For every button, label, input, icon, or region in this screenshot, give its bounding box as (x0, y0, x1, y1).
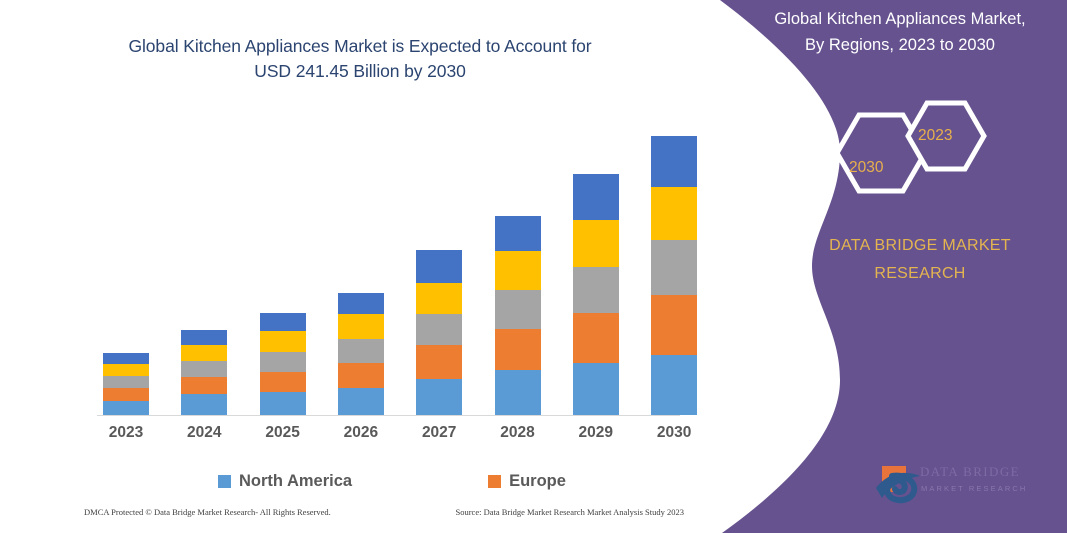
logo-text-data-bridge: DATA BRIDGE (920, 464, 1020, 480)
legend-label-north-america: North America (239, 472, 352, 491)
bar-segment-2025-series-4 (260, 331, 306, 352)
hexagon-2030-label: 2030 (849, 159, 883, 177)
legend-label-europe: Europe (509, 472, 566, 491)
bar-segment-2025-series-5 (260, 313, 306, 331)
bar-segment-2025-europe (260, 372, 306, 392)
bar-segment-2023-series-4 (103, 364, 149, 376)
bar-segment-2025-north-america (260, 392, 306, 415)
bar-segment-2027-europe (416, 345, 462, 379)
bar-segment-2029-europe (573, 313, 619, 363)
panel-title: Global Kitchen Appliances Market, By Reg… (740, 6, 1060, 58)
footer-copyright: DMCA Protected © Data Bridge Market Rese… (84, 507, 331, 517)
infographic-canvas: Global Kitchen Appliances Market is Expe… (0, 0, 1067, 533)
bar-segment-2026-series-4 (338, 314, 384, 339)
bar-segment-2027-series-4 (416, 283, 462, 314)
bar-segment-2024-series-3 (181, 361, 227, 377)
bar-segment-2024-north-america (181, 394, 227, 415)
bar-2025[interactable] (260, 313, 306, 533)
bar-segment-2028-series-3 (495, 290, 541, 329)
panel-title-line-1: Global Kitchen Appliances Market, (740, 6, 1060, 32)
brand-name: DATA BRIDGE MARKET RESEARCH (800, 232, 1040, 288)
bar-segment-2025-series-3 (260, 352, 306, 372)
panel-title-line-2: By Regions, 2023 to 2030 (740, 32, 1060, 58)
x-axis-label-2027: 2027 (404, 424, 474, 442)
bar-segment-2028-series-4 (495, 251, 541, 290)
bar-segment-2027-series-5 (416, 250, 462, 283)
bar-segment-2028-north-america (495, 370, 541, 415)
bar-segment-2024-europe (181, 377, 227, 394)
bar-segment-2023-series-5 (103, 353, 149, 364)
hexagon-badges: 2023 2030 (815, 98, 1005, 208)
bar-segment-2029-series-3 (573, 267, 619, 313)
bar-segment-2024-series-5 (181, 330, 227, 345)
bar-segment-2023-europe (103, 388, 149, 401)
bar-segment-2024-series-4 (181, 345, 227, 361)
bar-segment-2026-series-5 (338, 293, 384, 314)
legend-item-europe[interactable]: Europe (488, 472, 566, 491)
chart-panel: Global Kitchen Appliances Market is Expe… (0, 0, 720, 533)
plot-area: 20232024202520262027202820292030 (0, 0, 720, 533)
bar-segment-2029-series-5 (573, 174, 619, 220)
legend-item-north-america[interactable]: North America (218, 472, 352, 491)
bar-segment-2026-north-america (338, 388, 384, 415)
bar-segment-2026-series-3 (338, 339, 384, 363)
footer-source: Source: Data Bridge Market Research Mark… (455, 507, 684, 517)
chart-legend: North America Europe (100, 472, 620, 491)
hexagon-outlines-icon (815, 98, 1005, 208)
brand-name-line-1: DATA BRIDGE MARKET (800, 232, 1040, 260)
bar-segment-2023-north-america (103, 401, 149, 415)
legend-swatch-north-america (218, 475, 231, 488)
legend-swatch-europe (488, 475, 501, 488)
data-bridge-mark-icon (872, 458, 926, 504)
bar-segment-2027-series-3 (416, 314, 462, 345)
logo-text-market-research: MARKET RESEARCH (921, 484, 1027, 493)
bar-segment-2023-series-3 (103, 376, 149, 388)
bar-segment-2029-north-america (573, 363, 619, 415)
bar-2026[interactable] (338, 293, 384, 533)
bar-segment-2027-north-america (416, 379, 462, 415)
x-axis-label-2026: 2026 (326, 424, 396, 442)
bar-2023[interactable] (103, 353, 149, 533)
bar-segment-2029-series-4 (573, 220, 619, 267)
footer: DMCA Protected © Data Bridge Market Rese… (84, 507, 684, 517)
x-axis-label-2024: 2024 (169, 424, 239, 442)
x-axis-label-2025: 2025 (248, 424, 318, 442)
hexagon-2023-label: 2023 (918, 127, 952, 145)
x-axis-label-2029: 2029 (561, 424, 631, 442)
bar-segment-2028-series-5 (495, 216, 541, 251)
x-axis-label-2028: 2028 (483, 424, 553, 442)
bar-segment-2026-europe (338, 363, 384, 388)
company-logo[interactable]: DATA BRIDGE MARKET RESEARCH (872, 458, 1052, 508)
brand-name-line-2: RESEARCH (800, 260, 1040, 288)
x-axis-label-2023: 2023 (91, 424, 161, 442)
bar-segment-2028-europe (495, 329, 541, 370)
